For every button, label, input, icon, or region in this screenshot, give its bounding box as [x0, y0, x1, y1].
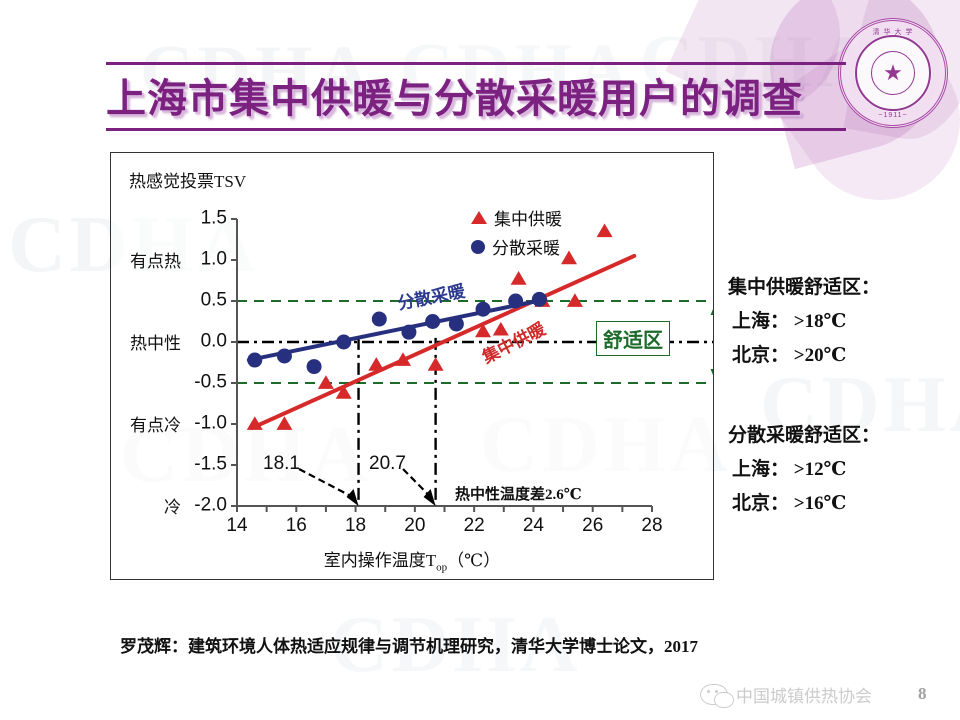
legend-item-jizhong: 集中供暖	[471, 205, 562, 230]
data-point-集中供暖	[368, 357, 384, 371]
x-tick-label: 26	[582, 515, 603, 537]
right-panel-line-jizhong-shanghai: 上海： >18℃	[728, 306, 880, 333]
right-panel-heading-fensan: 分散采暖舒适区：	[728, 420, 880, 447]
chart-x-axis-title: 室内操作温度Top（℃）	[111, 546, 713, 573]
data-point-分散采暖	[449, 316, 464, 331]
comfort-zone-badge: 舒适区	[596, 321, 670, 356]
right-panel-block-fensan: 分散采暖舒适区： 上海： >12℃ 北京： >16℃	[728, 420, 880, 522]
data-point-分散采暖	[532, 292, 547, 307]
annotation-neutral-diff: 热中性温度差2.6℃	[455, 483, 582, 504]
page-number: 8	[918, 684, 927, 704]
footer-brand: 中国城镇供热协会	[700, 682, 872, 707]
seal-star-glyph: ★	[871, 51, 915, 95]
annotation-arrowhead-1	[424, 489, 436, 506]
x-tick-label: 16	[286, 515, 307, 537]
y-tick-label: 0.5	[201, 290, 227, 312]
annotation-arrowhead-0	[347, 489, 359, 506]
data-point-分散采暖	[307, 359, 322, 374]
x-tick-label: 18	[345, 515, 366, 537]
chart-x-axis-title-unit: （℃）	[447, 551, 500, 570]
y-tick-label: -1.0	[194, 413, 227, 435]
data-point-分散采暖	[336, 335, 351, 350]
annotation-neutral-temp-2: 20.7	[369, 453, 406, 475]
footer-label: 中国城镇供热协会	[736, 682, 872, 707]
data-point-分散采暖	[476, 302, 491, 317]
chart-legend: 集中供暖 分散采暖	[471, 205, 562, 263]
data-point-分散采暖	[508, 294, 523, 309]
y-tick-label: -1.5	[194, 454, 227, 476]
data-point-分散采暖	[277, 348, 292, 363]
x-tick-label: 14	[226, 515, 247, 537]
circle-marker-icon	[471, 240, 485, 254]
data-point-集中供暖	[561, 251, 577, 265]
y-category-label: 有点冷	[130, 411, 181, 436]
chart-panel: 热感觉投票TSV 集中供暖 分散采暖 分散采暖 集中供暖 18.1 20.7 热…	[110, 152, 714, 580]
x-tick-label: 22	[464, 515, 485, 537]
data-point-集中供暖	[428, 357, 444, 371]
annotation-arrow-0	[299, 469, 355, 498]
legend-label-jizhong: 集中供暖	[494, 205, 562, 230]
x-tick-label: 28	[641, 515, 662, 537]
y-tick-label: -0.5	[194, 372, 227, 394]
right-panel-line-fensan-beijing: 北京： >16℃	[728, 488, 880, 515]
wechat-icon	[700, 684, 728, 705]
y-category-label: 有点热	[130, 247, 181, 272]
x-tick-label: 20	[404, 515, 425, 537]
data-point-集中供暖	[511, 271, 527, 285]
data-point-分散采暖	[372, 312, 387, 327]
y-category-label: 热中性	[130, 329, 181, 354]
tsinghua-university-seal: 清 华 大 学 ★ ~1911~	[838, 18, 948, 128]
data-point-分散采暖	[401, 325, 416, 340]
y-tick-label: 0.0	[201, 331, 227, 353]
x-tick-label: 24	[523, 515, 544, 537]
right-panel-line-jizhong-beijing: 北京： >20℃	[728, 340, 880, 367]
data-point-分散采暖	[425, 314, 440, 329]
data-point-集中供暖	[597, 224, 613, 238]
legend-label-fensan: 分散采暖	[492, 234, 560, 259]
annotation-neutral-temp-1: 18.1	[263, 453, 300, 475]
legend-item-fensan: 分散采暖	[471, 234, 562, 259]
source-citation: 罗茂辉：建筑环境人体热适应规律与调节机理研究，清华大学博士论文，2017	[120, 632, 698, 657]
chart-x-axis-title-sub: op	[436, 561, 447, 573]
y-tick-label: 1.0	[201, 249, 227, 271]
triangle-marker-icon	[471, 211, 487, 224]
right-panel-heading-jizhong: 集中供暖舒适区：	[728, 272, 880, 299]
data-point-集中供暖	[276, 416, 292, 430]
data-point-分散采暖	[247, 353, 262, 368]
title-rule-top	[106, 62, 846, 65]
right-panel-line-fensan-shanghai: 上海： >12℃	[728, 454, 880, 481]
y-tick-label: 1.5	[201, 208, 227, 230]
y-category-label: 冷	[164, 493, 181, 518]
y-tick-label: -2.0	[194, 495, 227, 517]
title-rule-bottom	[106, 128, 846, 131]
chart-x-axis-title-main: 室内操作温度T	[324, 551, 436, 570]
right-panel-block-jizhong: 集中供暖舒适区： 上海： >18℃ 北京： >20℃	[728, 272, 880, 374]
seal-bottom-text: ~1911~	[841, 112, 945, 119]
page-title: 上海市集中供暖与分散采暖用户的调查	[106, 66, 846, 124]
